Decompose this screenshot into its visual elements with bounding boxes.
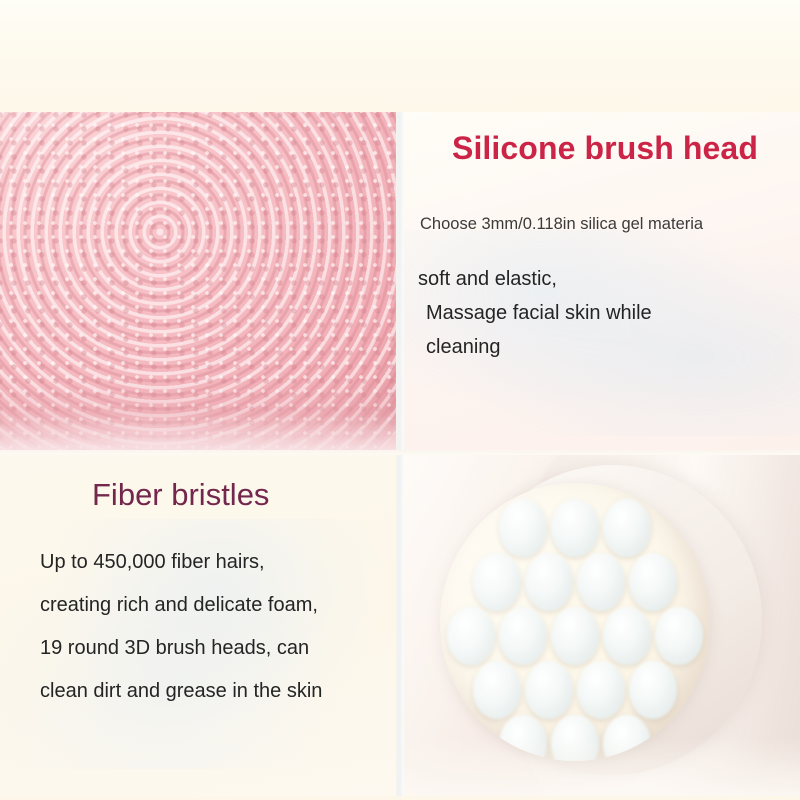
silicone-brush-photo xyxy=(0,112,396,450)
silicone-body-line-3: cleaning xyxy=(418,330,798,364)
bristle-cluster xyxy=(499,499,547,557)
bristle-cluster xyxy=(629,553,677,611)
bristle-cluster xyxy=(603,499,651,557)
bristle-cluster xyxy=(577,661,625,719)
silicone-body-line-1: soft and elastic, xyxy=(418,262,798,296)
bristle-cluster xyxy=(447,607,495,665)
bristle-cluster xyxy=(577,553,625,611)
bristle-cluster xyxy=(603,607,651,665)
bristle-cluster xyxy=(499,607,547,665)
silicone-subtitle: Choose 3mm/0.118in silica gel materia xyxy=(420,215,792,234)
fiber-body: Up to 450,000 fiber hairs, creating rich… xyxy=(40,541,390,713)
silicone-body: soft and elastic, Massage facial skin wh… xyxy=(418,262,798,364)
silicone-bottom-fade xyxy=(0,380,396,450)
bristle-cluster xyxy=(473,553,521,611)
bristle-cluster xyxy=(525,661,573,719)
bristle-cluster xyxy=(551,499,599,557)
bristle-cluster xyxy=(551,607,599,665)
fiber-brush-head xyxy=(440,483,710,761)
silicone-body-line-2: Massage facial skin while xyxy=(418,296,798,330)
product-infographic: Silicone brush head Choose 3mm/0.118in s… xyxy=(0,0,800,800)
bristle-cluster xyxy=(473,661,521,719)
bristle-cluster xyxy=(629,661,677,719)
fiber-body-line-2: creating rich and delicate foam, xyxy=(40,584,390,627)
bristle-cluster xyxy=(655,607,703,665)
fiber-title: Fiber bristles xyxy=(92,477,269,513)
horizontal-divider xyxy=(0,450,800,455)
fiber-body-line-3: 19 round 3D brush heads, can xyxy=(40,627,390,670)
brush-bottom-fade xyxy=(404,738,800,796)
bristle-cluster xyxy=(525,553,573,611)
top-background-band xyxy=(0,0,800,112)
fiber-bristles-text: Fiber bristles Up to 450,000 fiber hairs… xyxy=(0,455,396,796)
fiber-body-line-4: clean dirt and grease in the skin xyxy=(40,670,390,713)
silicone-title: Silicone brush head xyxy=(452,130,792,167)
silicone-brush-text: Silicone brush head Choose 3mm/0.118in s… xyxy=(404,112,800,450)
fiber-brush-photo xyxy=(404,455,800,796)
silicone-photo-canvas xyxy=(0,112,396,450)
fiber-body-line-1: Up to 450,000 fiber hairs, xyxy=(40,541,390,584)
